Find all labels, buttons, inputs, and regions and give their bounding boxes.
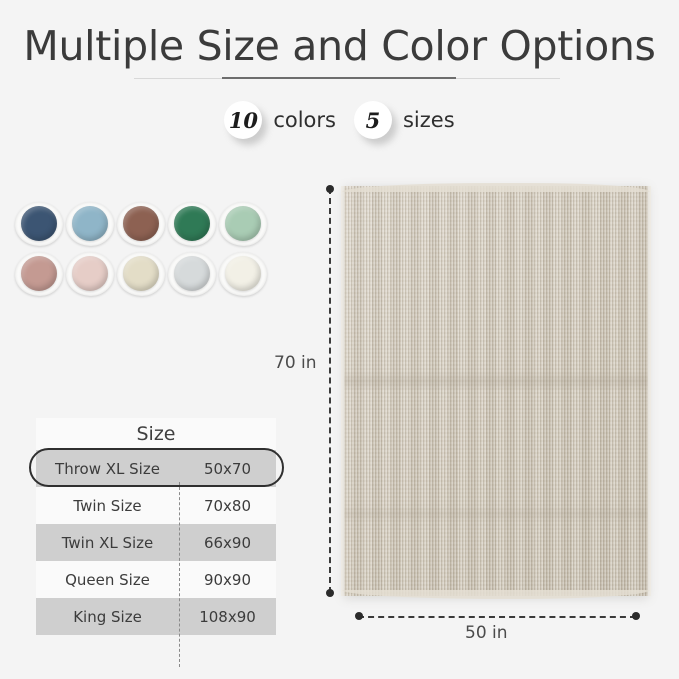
table-row[interactable]: King Size 108x90: [36, 598, 276, 635]
size-dimensions: 66x90: [179, 534, 276, 552]
size-table-header: Size: [36, 418, 276, 450]
color-swatch-row-2: [14, 250, 266, 298]
dusty-blue-swatch: [72, 206, 108, 241]
height-dimension-line: [329, 188, 331, 593]
page-title: Multiple Size and Color Options: [0, 22, 679, 70]
forest-green-swatch: [174, 206, 210, 241]
product-photo: [344, 186, 648, 596]
size-dimensions: 108x90: [179, 608, 276, 626]
table-row[interactable]: Twin Size 70x80: [36, 487, 276, 524]
table-row[interactable]: Queen Size 90x90: [36, 561, 276, 598]
table-row[interactable]: Throw XL Size 50x70: [36, 450, 276, 487]
width-dimension-line: [358, 616, 636, 618]
rust-brown-swatch: [123, 206, 159, 241]
blanket-fabric: [344, 186, 648, 596]
sizes-label: sizes: [403, 108, 455, 132]
size-table-body: Throw XL Size 50x70 Twin Size 70x80 Twin…: [36, 450, 276, 635]
sage-mint-swatch: [225, 206, 261, 241]
color-swatch-dusty-rose[interactable]: [14, 250, 64, 298]
ivory-white-swatch: [225, 256, 261, 291]
width-dimension-endpoint-right: [632, 612, 640, 620]
blush-pink-swatch: [72, 256, 108, 291]
color-swatch-light-grey[interactable]: [167, 250, 217, 298]
color-swatch-navy-blue[interactable]: [14, 200, 64, 248]
size-name: Twin XL Size: [36, 534, 179, 552]
height-dimension-endpoint-bottom: [326, 589, 334, 597]
light-grey-swatch: [174, 256, 210, 291]
blanket-bottom-hem: [342, 590, 650, 599]
feature-badges: 10 colors 5 sizes: [0, 99, 679, 141]
size-name: King Size: [36, 608, 179, 626]
cream-beige-swatch: [123, 256, 159, 291]
title-underline-accent: [222, 77, 456, 79]
size-name: Throw XL Size: [36, 460, 179, 478]
color-swatch-forest-green[interactable]: [167, 200, 217, 248]
navy-blue-swatch: [21, 206, 57, 241]
infographic-canvas: Multiple Size and Color Options 10 color…: [0, 0, 679, 679]
table-row[interactable]: Twin XL Size 66x90: [36, 524, 276, 561]
color-swatch-row-1: [14, 200, 266, 248]
size-dimensions: 70x80: [179, 497, 276, 515]
dusty-rose-swatch: [21, 256, 57, 291]
color-swatch-dusty-blue[interactable]: [65, 200, 115, 248]
color-swatch-blush-pink[interactable]: [65, 250, 115, 298]
size-name: Twin Size: [36, 497, 179, 515]
color-swatch-rust-brown[interactable]: [116, 200, 166, 248]
colors-count-badge: 10: [224, 101, 262, 139]
height-dimension-label: 70 in: [274, 353, 317, 373]
sizes-count-badge: 5: [354, 101, 392, 139]
size-dimensions: 50x70: [179, 460, 276, 478]
blanket-right-edge: [646, 186, 651, 596]
color-swatch-ivory-white[interactable]: [218, 250, 268, 298]
colors-label: colors: [273, 108, 336, 132]
size-table: Size Throw XL Size 50x70 Twin Size 70x80…: [36, 418, 276, 635]
height-dimension-endpoint-top: [326, 185, 334, 193]
size-name: Queen Size: [36, 571, 179, 589]
color-swatch-sage-mint[interactable]: [218, 200, 268, 248]
blanket-left-edge: [341, 186, 346, 596]
color-swatch-grid: [14, 200, 266, 302]
color-swatch-cream-beige[interactable]: [116, 250, 166, 298]
size-dimensions: 90x90: [179, 571, 276, 589]
width-dimension-label: 50 in: [465, 623, 508, 643]
blanket-top-hem: [342, 183, 650, 192]
width-dimension-endpoint-left: [355, 612, 363, 620]
